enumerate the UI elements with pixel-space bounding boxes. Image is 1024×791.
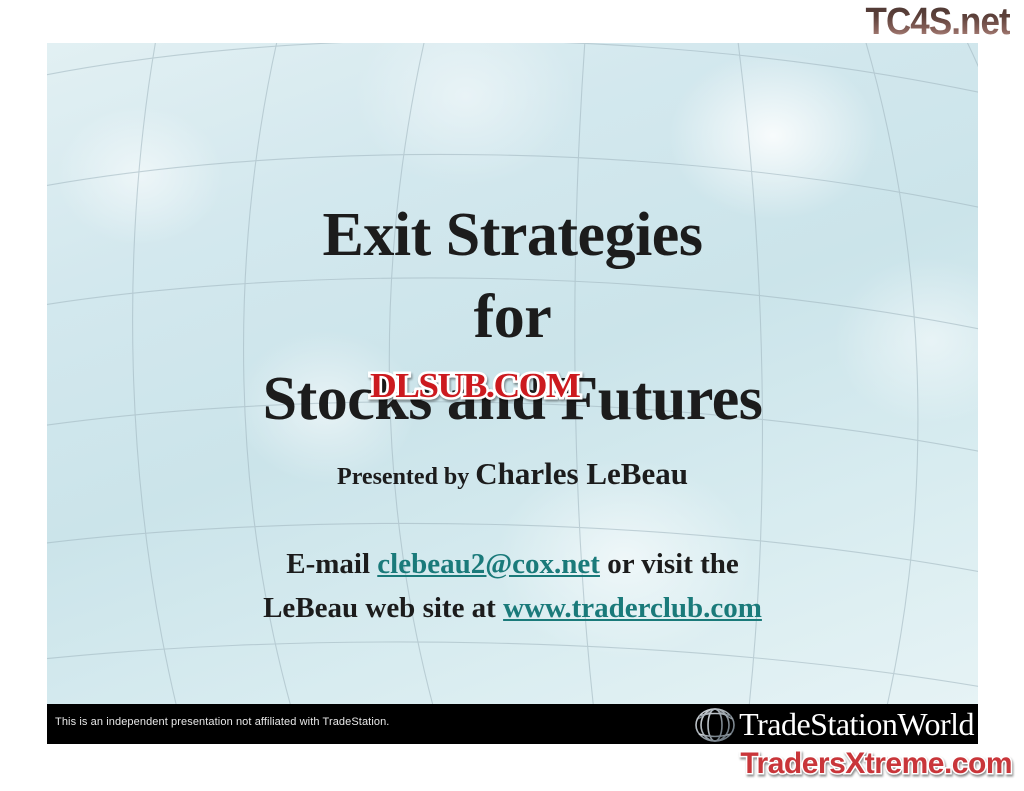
email-line: E-mail clebeau2@cox.net or visit the	[47, 548, 978, 581]
email-link[interactable]: clebeau2@cox.net	[377, 548, 600, 580]
presenter-prefix-label: Presented by	[337, 464, 475, 490]
tc4s-watermark: TC4S.net	[866, 2, 1010, 42]
tradestationworld-label: TradeStationWorld	[739, 706, 974, 742]
disclaimer-text: This is an independent presentation not …	[55, 716, 389, 728]
tradestationworld-wordmark: TradeStationWorld	[739, 707, 974, 741]
presenter-line: Presented by Charles LeBeau	[47, 456, 978, 492]
website-prefix-label: LeBeau web site at	[263, 592, 503, 624]
footer-bar: This is an independent presentation not …	[47, 704, 978, 744]
slide-title-line-1: Exit Strategies	[47, 196, 978, 275]
tradestationworld-logo: TradeStationWorld	[693, 704, 974, 744]
website-link[interactable]: www.traderclub.com	[503, 592, 762, 624]
dlsub-watermark: DLSUB.COM	[370, 366, 579, 406]
email-prefix-label: E-mail	[286, 548, 377, 580]
slide-title-line-2: for	[47, 278, 978, 357]
email-suffix-label: or visit the	[600, 548, 739, 580]
presenter-name: Charles LeBeau	[475, 456, 688, 491]
website-line: LeBeau web site at www.traderclub.com	[47, 592, 978, 625]
globe-icon	[693, 705, 737, 743]
tradersxtreme-watermark: TradersXtreme.com	[740, 744, 1012, 784]
